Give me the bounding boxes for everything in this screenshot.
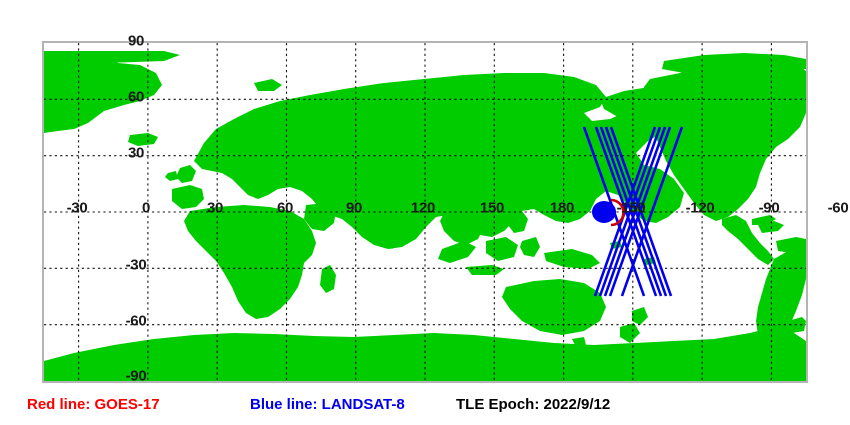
legend-blue-line-landsat8: Blue line: LANDSAT-8 <box>250 397 405 412</box>
lon-tick-120: 120 <box>411 201 435 216</box>
lon-tick-60: 60 <box>277 201 293 216</box>
lat-tick--90: -90 <box>126 369 147 384</box>
satellite-map-page: -30 0 30 60 90 120 150 180 -150 -120 -90… <box>0 0 850 425</box>
lon-tick--120: -120 <box>686 201 715 216</box>
lon-tick-150: 150 <box>480 201 504 216</box>
lon-tick--30: -30 <box>67 201 88 216</box>
lat-tick-90: 90 <box>128 34 144 49</box>
lon-tick--90: -90 <box>759 201 780 216</box>
lon-tick-180: 180 <box>550 201 574 216</box>
legend-tle-epoch: TLE Epoch: 2022/9/12 <box>456 397 610 412</box>
lon-tick-30: 30 <box>207 201 223 216</box>
lat-tick-30: 30 <box>128 146 144 161</box>
lon-tick-90: 90 <box>346 201 362 216</box>
lat-tick--30: -30 <box>126 258 147 273</box>
lat-tick-60: 60 <box>128 90 144 105</box>
lon-tick-0: 0 <box>142 201 150 216</box>
lon-tick--60: -60 <box>828 201 849 216</box>
legend-bar: Red line: GOES-17 Blue line: LANDSAT-8 T… <box>0 392 850 420</box>
lat-tick--60: -60 <box>126 314 147 329</box>
legend-red-line-goes17: Red line: GOES-17 <box>27 397 160 412</box>
lon-tick--150: -150 <box>617 201 646 216</box>
landsat8-position-marker[interactable] <box>592 201 616 223</box>
